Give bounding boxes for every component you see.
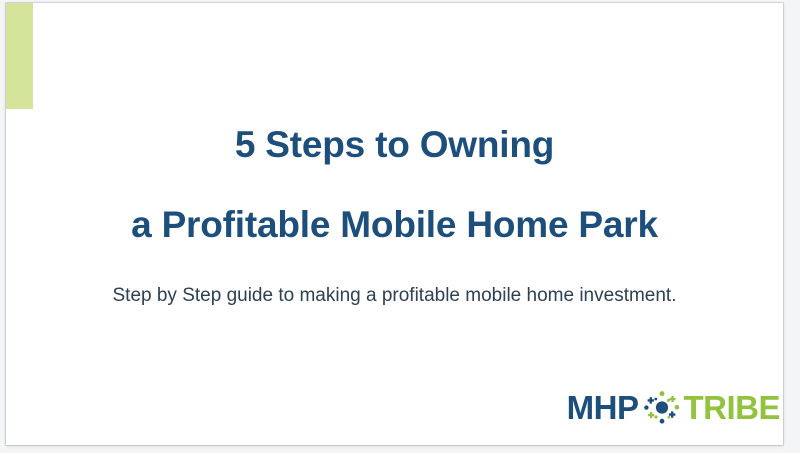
cluster-dots-icon bbox=[643, 390, 681, 424]
logo-word-tribe: TRIBE bbox=[684, 391, 781, 424]
page-title: 5 Steps to Owning a Profitable Mobile Ho… bbox=[6, 125, 783, 245]
brand-logo: MHP bbox=[516, 387, 780, 427]
slide-canvas: 5 Steps to Owning a Profitable Mobile Ho… bbox=[0, 0, 800, 453]
slide-card: 5 Steps to Owning a Profitable Mobile Ho… bbox=[6, 3, 783, 445]
subtitle-text: Step by Step guide to making a profitabl… bbox=[6, 284, 783, 308]
title-line-2: a Profitable Mobile Home Park bbox=[6, 205, 783, 245]
slide-body: 5 Steps to Owning a Profitable Mobile Ho… bbox=[6, 3, 783, 445]
logo-word-mhp: MHP bbox=[567, 391, 639, 424]
title-line-1: 5 Steps to Owning bbox=[6, 125, 783, 165]
